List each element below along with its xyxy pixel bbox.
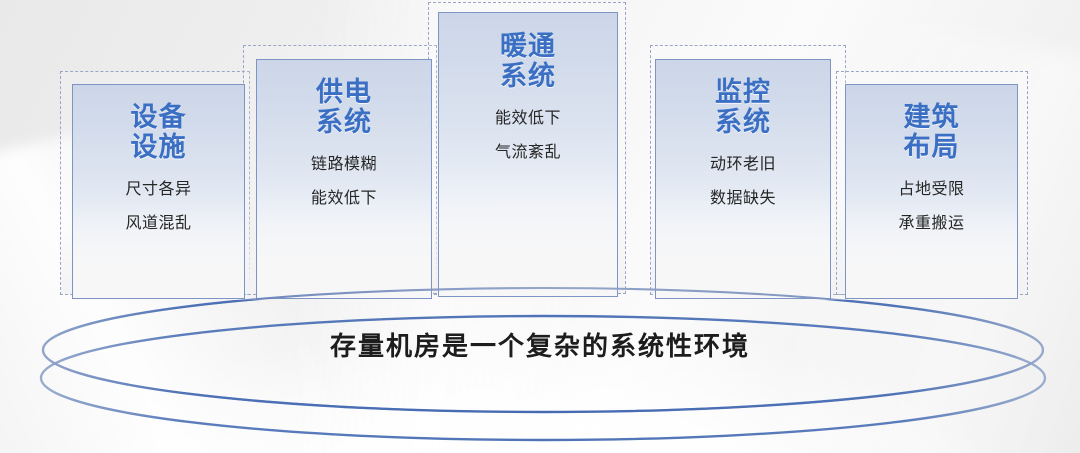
card-item: 能效低下 (439, 110, 617, 128)
card-title-line2: 系统 (439, 61, 617, 91)
card-title-line2: 布局 (846, 132, 1017, 162)
card-title-line1: 监控 (656, 77, 830, 107)
slide-canvas: 设备 设施 尺寸各异 风道混乱 供电 系统 链路模糊 能效低下 (0, 0, 1080, 453)
card-items-monitoring-system: 动环老旧 数据缺失 (656, 156, 830, 207)
card-item: 能效低下 (257, 190, 431, 208)
card-title-line2: 设施 (73, 132, 244, 162)
card-item: 动环老旧 (656, 156, 830, 174)
card-items-hvac-system: 能效低下 气流紊乱 (439, 110, 617, 161)
card-bottom-fade (438, 167, 618, 297)
card-title-equipment-facility: 设备 设施 (73, 102, 244, 162)
card-equipment-facility[interactable]: 设备 设施 尺寸各异 风道混乱 (72, 84, 245, 299)
card-building-layout[interactable]: 建筑 布局 占地受限 承重搬运 (845, 84, 1018, 299)
card-title-monitoring-system: 监控 系统 (656, 77, 830, 137)
card-item: 承重搬运 (846, 215, 1017, 233)
card-power-supply-system[interactable]: 供电 系统 链路模糊 能效低下 (256, 59, 432, 299)
card-item: 气流紊乱 (439, 144, 617, 162)
card-hvac-system[interactable]: 暖通 系统 能效低下 气流紊乱 (438, 12, 618, 297)
card-title-line2: 系统 (656, 107, 830, 137)
card-item: 风道混乱 (73, 215, 244, 233)
card-title-line1: 设备 (73, 102, 244, 132)
card-title-building-layout: 建筑 布局 (846, 102, 1017, 162)
slide-caption: 存量机房是一个复杂的系统性环境 (0, 326, 1080, 363)
card-title-line1: 暖通 (439, 31, 617, 61)
card-items-building-layout: 占地受限 承重搬运 (846, 181, 1017, 232)
card-item: 尺寸各异 (73, 181, 244, 199)
card-items-equipment-facility: 尺寸各异 风道混乱 (73, 181, 244, 232)
card-title-line1: 供电 (257, 77, 431, 107)
card-title-line1: 建筑 (846, 102, 1017, 132)
card-monitoring-system[interactable]: 监控 系统 动环老旧 数据缺失 (655, 59, 831, 299)
card-title-power-supply-system: 供电 系统 (257, 77, 431, 137)
card-items-power-supply-system: 链路模糊 能效低下 (257, 156, 431, 207)
card-title-hvac-system: 暖通 系统 (439, 31, 617, 91)
card-title-line2: 系统 (257, 107, 431, 137)
card-item: 数据缺失 (656, 190, 830, 208)
card-item: 链路模糊 (257, 156, 431, 174)
card-item: 占地受限 (846, 181, 1017, 199)
